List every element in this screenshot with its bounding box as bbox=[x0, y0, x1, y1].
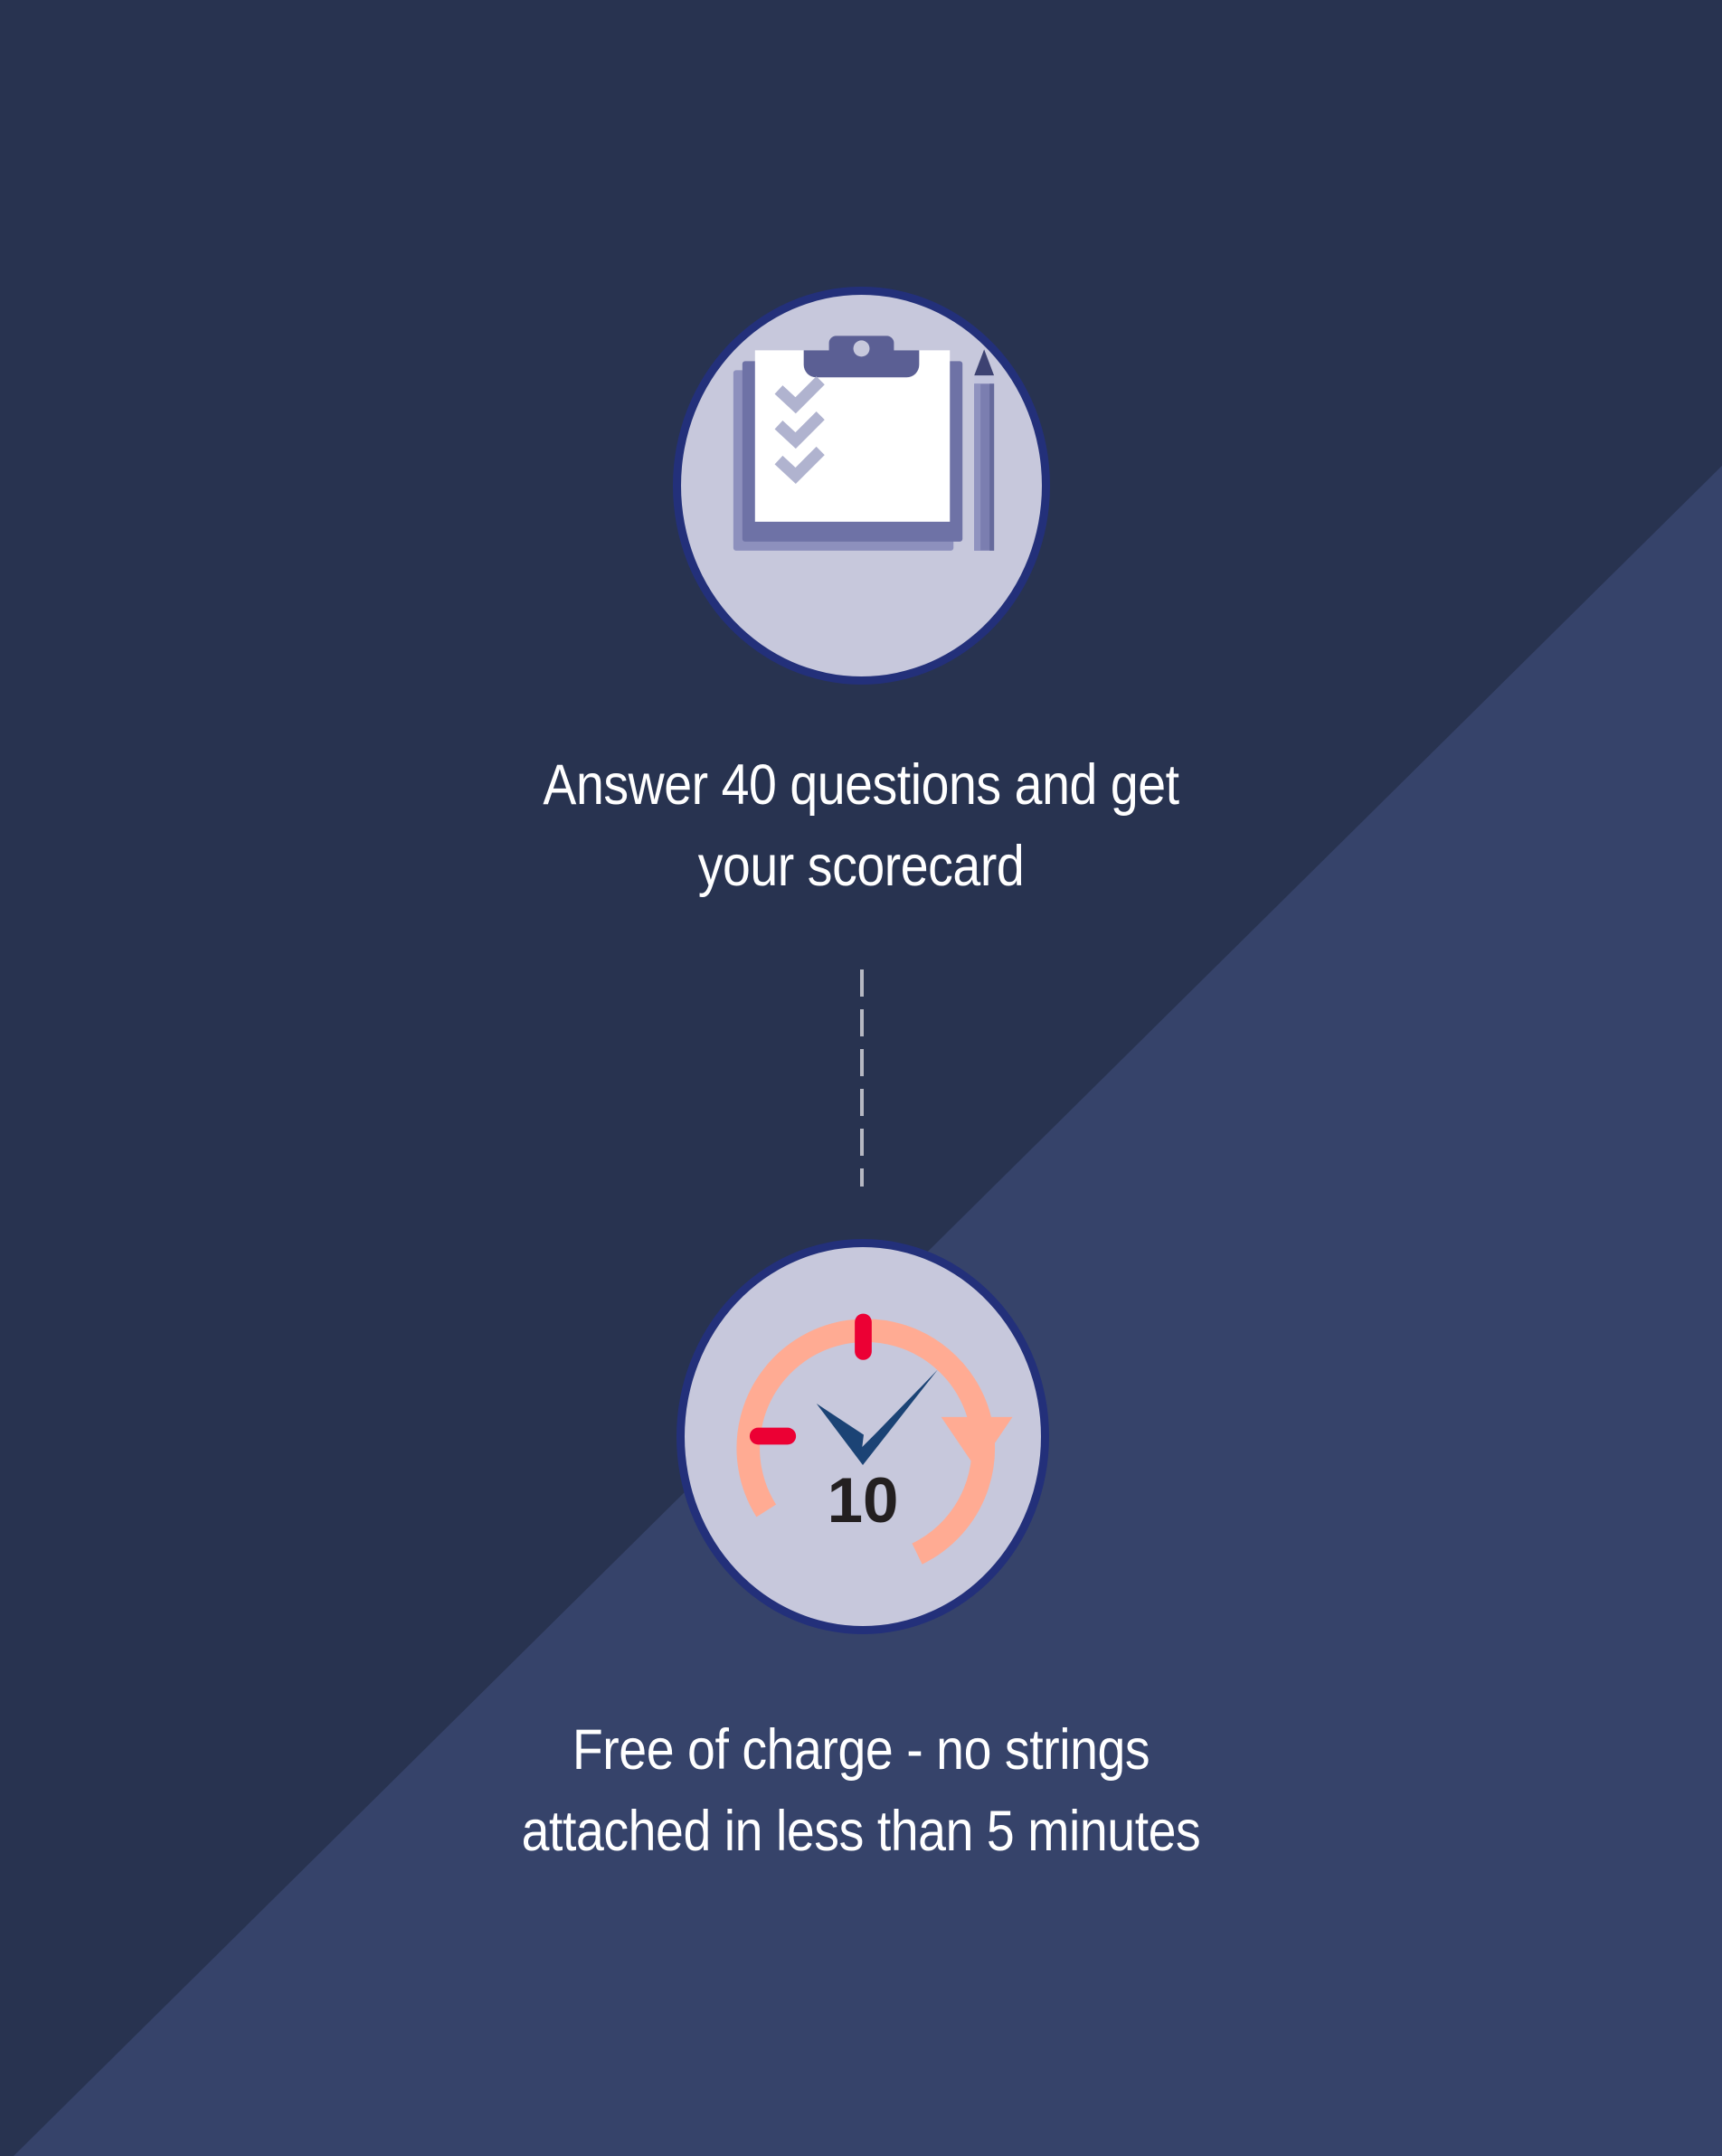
timer-icon-circle: 10 bbox=[676, 1239, 1049, 1634]
clock-hand-hour bbox=[860, 1370, 938, 1465]
clipboard-checklist-icon bbox=[681, 295, 1042, 676]
promo-panel: Answer 40 questions and get your scoreca… bbox=[0, 0, 1722, 2156]
timer-value-label: 10 bbox=[828, 1465, 899, 1537]
step-questions-caption: Answer 40 questions and get your scoreca… bbox=[103, 744, 1619, 907]
steps-container: Answer 40 questions and get your scoreca… bbox=[0, 0, 1722, 2156]
stopwatch-timer-icon: 10 bbox=[685, 1247, 1041, 1626]
clock-tick-12 bbox=[855, 1314, 872, 1360]
clock-hand-minute bbox=[817, 1404, 864, 1465]
step-free-caption: Free of charge - no strings attached in … bbox=[103, 1709, 1619, 1872]
clipboard-icon-circle bbox=[673, 287, 1050, 685]
step-divider-dashed-line bbox=[860, 969, 864, 1187]
clock-tick-9 bbox=[750, 1428, 796, 1445]
pencil-icon bbox=[974, 349, 994, 550]
